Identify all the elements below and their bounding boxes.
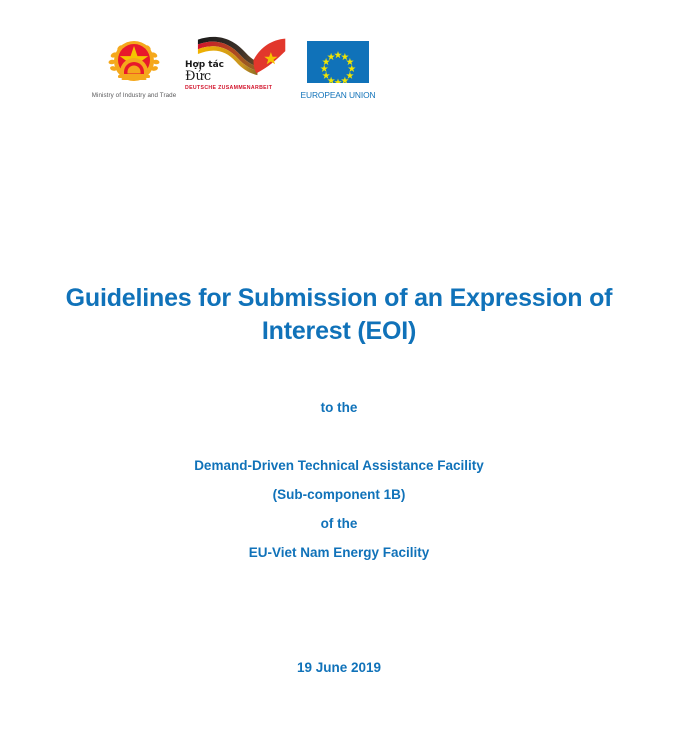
document-cover-page: Ministry of Industry and Trade	[0, 0, 693, 735]
vietnam-national-emblem-icon	[105, 38, 163, 88]
logo-text-german-cooperation: Hợp tác Đức DEUTSCHE ZUSAMMENARBEIT	[185, 60, 272, 92]
logo-caption-european-union: EUROPEAN UNION	[301, 90, 376, 100]
logo-line-deutsche-zusammenarbeit: DEUTSCHE ZUSAMMENARBEIT	[185, 85, 272, 92]
document-date: 19 June 2019	[0, 659, 678, 677]
document-title: Guidelines for Submission of an Expressi…	[59, 282, 619, 348]
european-union-flag-icon	[307, 41, 369, 83]
logo-line-duc: Đức	[185, 70, 272, 84]
facility-line-subcomponent: (Sub-component 1B)	[0, 485, 678, 504]
facility-block: Demand-Driven Technical Assistance Facil…	[0, 456, 678, 562]
facility-line-of-the: of the	[0, 514, 678, 533]
logo-ministry-of-industry-and-trade: Ministry of Industry and Trade	[86, 38, 182, 100]
logo-european-union: EUROPEAN UNION	[292, 41, 384, 100]
facility-line-name: Demand-Driven Technical Assistance Facil…	[0, 456, 678, 475]
page-title: Guidelines for Submission of an Expressi…	[0, 282, 678, 348]
facility-line-programme: EU-Viet Nam Energy Facility	[0, 543, 678, 562]
logo-german-vietnamese-cooperation: Hợp tác Đức DEUTSCHE ZUSAMMENARBEIT	[182, 30, 292, 100]
logo-band: Ministry of Industry and Trade	[86, 24, 391, 100]
logo-caption-ministry: Ministry of Industry and Trade	[92, 92, 177, 100]
title-connector-to-the: to the	[0, 399, 678, 417]
